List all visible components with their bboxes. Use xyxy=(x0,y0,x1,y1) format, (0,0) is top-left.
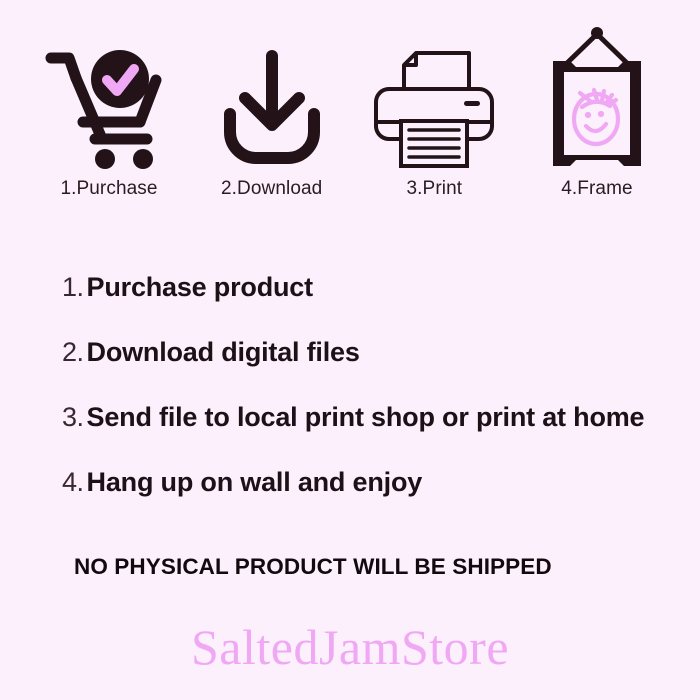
instruction-list: 1. Purchase product 2. Download digital … xyxy=(0,272,700,532)
icon-caption-download: 2.Download xyxy=(221,178,322,200)
shopping-cart-check-icon xyxy=(43,27,175,172)
hanging-picture-frame-icon xyxy=(542,27,652,172)
step-number: 1. xyxy=(62,272,84,303)
list-item: 4. Hang up on wall and enjoy xyxy=(62,467,700,532)
step-number: 2. xyxy=(62,337,84,368)
printed-sheet xyxy=(401,121,467,166)
printer-paper-in xyxy=(404,53,469,91)
step-text: Purchase product xyxy=(87,272,313,303)
doodle-eye-right xyxy=(598,111,604,117)
doodle-eye-left xyxy=(585,112,591,118)
step-number: 4. xyxy=(62,467,84,498)
icon-caption-print: 3.Print xyxy=(407,178,463,200)
icon-caption-purchase: 1.Purchase xyxy=(60,178,157,200)
list-item: 3. Send file to local print shop or prin… xyxy=(62,402,700,467)
step-text: Download digital files xyxy=(87,337,360,368)
list-item: 2. Download digital files xyxy=(62,337,700,402)
process-icon-strip: 1.Purchase 2.Download xyxy=(0,0,700,200)
shop-name-watermark: SaltedJamStore xyxy=(0,618,700,676)
printer-icon xyxy=(370,27,498,172)
list-item: 1. Purchase product xyxy=(62,272,700,337)
cart-wheel-right xyxy=(133,149,153,169)
step-text: Hang up on wall and enjoy xyxy=(87,467,423,498)
printer-status-slot xyxy=(464,101,480,106)
cart-wheel-left xyxy=(95,149,115,169)
no-physical-product-notice: NO PHYSICAL PRODUCT WILL BE SHIPPED xyxy=(0,554,700,580)
icon-step-print: 3.Print xyxy=(359,27,509,200)
download-arrow-icon xyxy=(217,27,327,172)
icon-step-download: 2.Download xyxy=(197,27,347,200)
step-text: Send file to local print shop or print a… xyxy=(87,402,645,433)
icon-caption-frame: 4.Frame xyxy=(561,178,632,200)
icon-step-frame: 4.Frame xyxy=(522,27,672,200)
step-number: 3. xyxy=(62,402,84,433)
icon-step-purchase: 1.Purchase xyxy=(34,27,184,200)
